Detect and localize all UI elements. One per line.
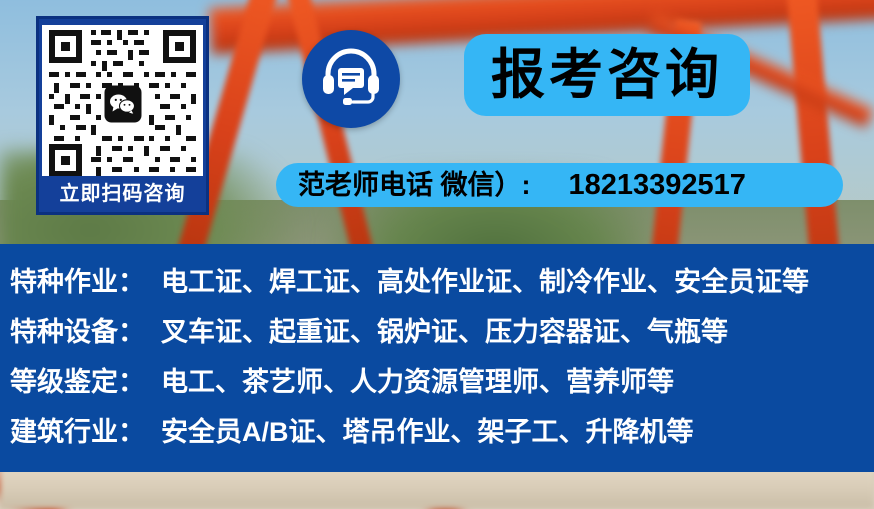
qr-matrix	[49, 30, 196, 176]
headset-chat-icon	[320, 48, 382, 111]
contact-label: 范老师电话 微信）:	[298, 172, 531, 199]
category-label: 特种设备：	[10, 310, 145, 349]
promo-poster: 立即扫码咨询 报考咨询 范老师电话 微信）: 18213392517	[0, 0, 874, 509]
category-row-construction-industry: 建筑行业： 安全员A/B证、塔吊作业、架子工、升降机等	[10, 410, 874, 460]
qr-card[interactable]: 立即扫码咨询	[36, 16, 209, 215]
category-label: 等级鉴定：	[10, 360, 145, 399]
category-label: 特种作业：	[10, 260, 145, 299]
category-label: 建筑行业：	[10, 410, 145, 449]
category-row-special-equipment: 特种设备： 叉车证、起重证、锅炉证、压力容器证、气瓶等	[10, 310, 874, 360]
qr-finder-top-right	[163, 30, 196, 63]
qr-finder-top-left	[49, 30, 82, 63]
qr-caption: 立即扫码咨询	[60, 176, 186, 212]
category-value: 电工、茶艺师、人力资源管理师、营养师等	[161, 360, 674, 399]
headset-badge[interactable]	[302, 30, 400, 128]
qr-finder-bottom-left	[49, 144, 82, 176]
category-value: 安全员A/B证、塔吊作业、架子工、升降机等	[161, 410, 694, 449]
qr-code[interactable]	[42, 25, 203, 176]
wechat-logo-icon	[104, 85, 141, 122]
category-row-special-operations: 特种作业： 电工证、焊工证、高处作业证、制冷作业、安全员证等	[10, 260, 874, 310]
category-row-grade-assessment: 等级鉴定： 电工、茶艺师、人力资源管理师、营养师等	[10, 360, 874, 410]
category-value: 电工证、焊工证、高处作业证、制冷作业、安全员证等	[161, 260, 809, 299]
contact-banner[interactable]: 范老师电话 微信）: 18213392517	[276, 163, 843, 207]
contact-phone-number[interactable]: 18213392517	[569, 171, 746, 200]
page-title: 报考咨询	[491, 48, 723, 102]
title-banner: 报考咨询	[464, 34, 750, 116]
category-value: 叉车证、起重证、锅炉证、压力容器证、气瓶等	[161, 310, 728, 349]
course-categories-panel: 特种作业： 电工证、焊工证、高处作业证、制冷作业、安全员证等 特种设备： 叉车证…	[0, 244, 874, 472]
